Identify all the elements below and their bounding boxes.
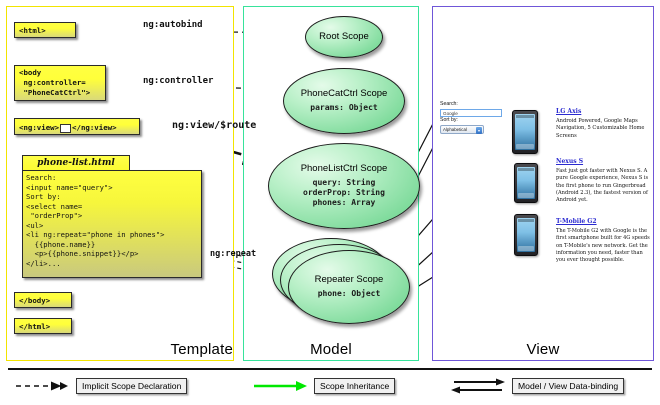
scope-phonecatctrl: PhoneCatCtrl Scope params: Object (283, 68, 405, 134)
dashed-arrow-icon (14, 380, 70, 392)
phone-snippet: Android Powered, Google Maps Navigation,… (556, 118, 652, 140)
ng-view-open-text: <ng:view> (19, 123, 59, 132)
list-item: Nexus S Fast just got faster with Nexus … (556, 158, 652, 204)
panel-model-label: Model (244, 341, 418, 358)
scope-repeater-title: Repeater Scope (315, 275, 384, 286)
legend-label: Scope Inheritance (314, 378, 395, 394)
ng-view-placeholder-icon (60, 124, 71, 133)
legend: Implicit Scope Declaration Scope Inherit… (0, 368, 660, 405)
scope-repeater-props: phone: Object (318, 289, 381, 299)
legend-label: Implicit Scope Declaration (76, 378, 187, 394)
tag-html-open: <html> (14, 22, 76, 38)
list-item: LG Axis Android Powered, Google Maps Nav… (556, 108, 652, 140)
list-item: T-Mobile G2 The T-Mobile G2 with Google … (556, 218, 652, 264)
phone-thumbnail (514, 214, 538, 256)
scope-root-title: Root Scope (319, 32, 369, 43)
phone-screen (517, 167, 535, 199)
scope-phonelistctrl-props: query: String orderProp: String phones: … (303, 178, 385, 208)
panel-view-label: View (433, 341, 653, 358)
phone-snippet: The T-Mobile G2 with Google is the first… (556, 228, 652, 264)
phone-thumbnail (512, 110, 538, 154)
chevron-down-icon[interactable]: ▾ (476, 127, 482, 134)
file-note-code: Search: <input name="query"> Sort by: <s… (22, 170, 202, 278)
search-input[interactable]: Google (440, 109, 502, 117)
edge-label-ng-controller: ng:controller (143, 76, 213, 86)
sort-select-value: Alphabetical (443, 127, 467, 132)
double-arrow-icon (450, 378, 506, 394)
phone-name-link[interactable]: LG Axis (556, 108, 652, 115)
file-note-phone-list: phone-list.html Search: <input name="que… (22, 155, 202, 280)
phone-thumbnail (514, 163, 538, 203)
legend-item-implicit-scope: Implicit Scope Declaration (14, 378, 187, 394)
file-note-title: phone-list.html (22, 155, 130, 171)
phone-name-link[interactable]: Nexus S (556, 158, 652, 165)
tag-html-close: </html> (14, 318, 72, 334)
tag-body-open: <body ng:controller= "PhoneCatCtrl"> (14, 65, 106, 101)
scope-repeater: Repeater Scope phone: Object (288, 250, 410, 324)
phone-snippet: Fast just got faster with Nexus S. A pur… (556, 168, 652, 204)
legend-label: Model / View Data-binding (512, 378, 624, 394)
legend-divider (8, 368, 652, 370)
diagram-canvas: Template <html> <body ng:controller= "Ph… (0, 0, 660, 405)
search-label: Search: (440, 101, 508, 109)
legend-item-data-binding: Model / View Data-binding (450, 378, 624, 394)
ng-view-close-text: </ng:view> (72, 123, 117, 132)
scope-phonelistctrl-title: PhoneListCtrl Scope (301, 164, 388, 175)
scope-root: Root Scope (305, 16, 383, 58)
scope-phonecatctrl-title: PhoneCatCtrl Scope (301, 89, 388, 100)
scope-phonelistctrl: PhoneListCtrl Scope query: String orderP… (268, 143, 420, 229)
edge-label-ng-view-route: ng:view/$route (172, 120, 256, 131)
green-arrow-icon (252, 380, 308, 392)
search-form: Search: Google Sort by: Alphabetical ▾ (440, 101, 508, 134)
tag-body-close: </body> (14, 292, 72, 308)
sort-label: Sort by: (440, 117, 508, 125)
edge-label-ng-autobind: ng:autobind (143, 20, 203, 30)
phone-name-link[interactable]: T-Mobile G2 (556, 218, 652, 225)
tag-ng-view: <ng:view></ng:view> (14, 118, 140, 135)
phone-screen (515, 114, 535, 150)
edge-label-ng-repeat: ng:repeat (210, 249, 256, 259)
scope-phonecatctrl-props: params: Object (310, 103, 377, 113)
sort-select[interactable]: Alphabetical ▾ (440, 125, 484, 134)
legend-item-scope-inheritance: Scope Inheritance (252, 378, 395, 394)
phone-screen (517, 218, 535, 252)
